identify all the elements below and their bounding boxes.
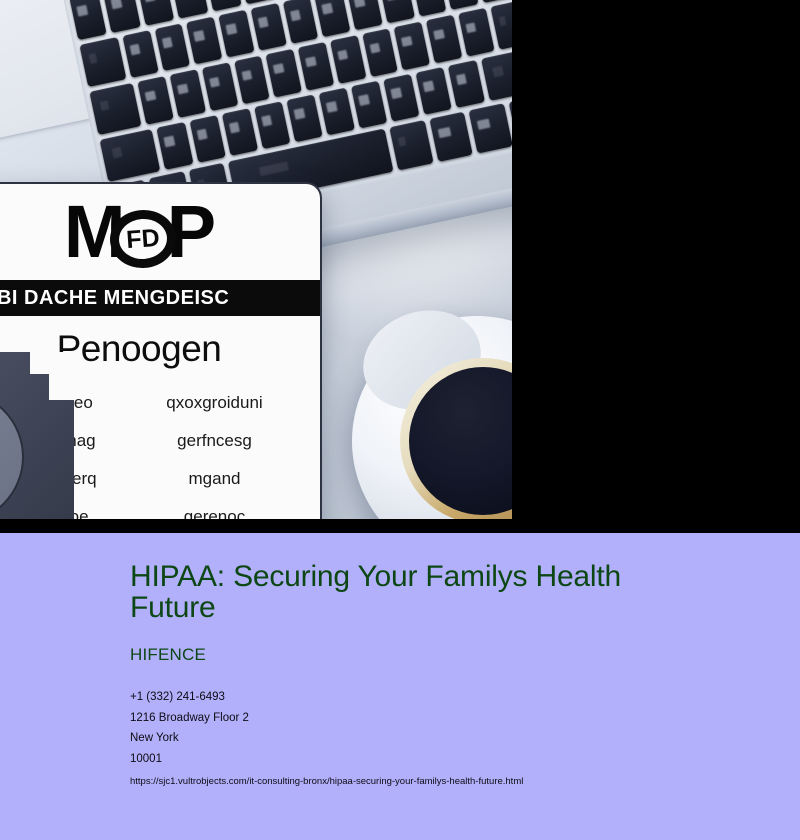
- card-item: qxoxgroiduni: [143, 386, 286, 420]
- contact-postal-code: 10001: [130, 749, 670, 769]
- slate-notch: [30, 352, 52, 374]
- slate-object: [0, 352, 74, 519]
- slate-circle-cutout: [0, 390, 24, 519]
- slate-notch: [49, 352, 75, 400]
- card-item: gerfncesg: [143, 424, 286, 458]
- brand-name: HIFENCE: [130, 645, 670, 665]
- contact-phone[interactable]: +1 (332) 241-6493: [130, 687, 670, 707]
- card-band-text: HBI DACHE MENGDEISC: [0, 280, 320, 316]
- card-item: mgand: [143, 462, 286, 496]
- card-logo: MoP FD: [0, 184, 320, 280]
- coffee-cup: [352, 316, 512, 519]
- contact-city: New York: [130, 728, 670, 748]
- contact-block: +1 (332) 241-6493 1216 Broadway Floor 2 …: [130, 687, 670, 769]
- source-url[interactable]: https://sjc1.vultrobjects.com/it-consult…: [130, 776, 670, 787]
- hero-image: MoP FD HBI DACHE MENGDEISC Penoogen xecg…: [0, 0, 512, 519]
- coffee-liquid: [409, 367, 512, 515]
- page-title: HIPAA: Securing Your Familys Health Futu…: [130, 561, 670, 623]
- hero-section: MoP FD HBI DACHE MENGDEISC Penoogen xecg…: [0, 0, 800, 533]
- content-section: HIPAA: Securing Your Familys Health Futu…: [0, 533, 800, 840]
- contact-address-line1: 1216 Broadway Floor 2: [130, 708, 670, 728]
- card-item: gerenoc: [143, 500, 286, 519]
